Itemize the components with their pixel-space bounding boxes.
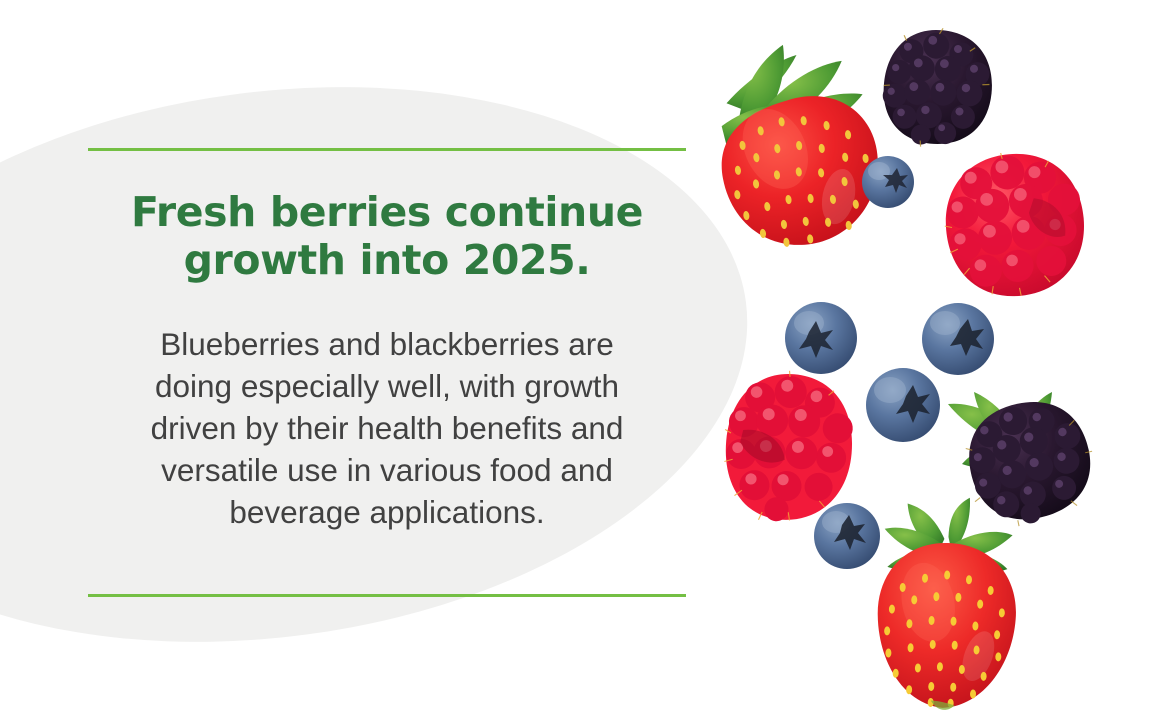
blackberry-top-icon [878,23,998,154]
body-line-3: driven by their health benefits and [92,408,682,450]
page-title: Fresh berries continue growth into 2025. [88,151,686,284]
bottom-divider-wrap [88,594,686,597]
body-line-1: Blueberries and blackberries are [92,324,682,366]
strawberry-bottom-icon [874,495,1020,713]
headline-line-2: growth into 2025. [96,237,678,285]
raspberry-upper-right-icon [939,146,1090,302]
text-block: Fresh berries continue growth into 2025.… [88,148,686,572]
body-paragraph: Blueberries and blackberries are doing e… [88,284,686,571]
body-line-5: beverage applications. [92,492,682,534]
body-line-2: doing especially well, with growth [92,366,682,408]
blueberry-lower-left-icon [814,503,880,569]
raspberry-lower-left-icon [718,366,859,528]
blackberry-lower-right-icon [948,391,1104,534]
bottom-divider-rule [88,594,686,597]
body-line-4: versatile use in various food and [92,450,682,492]
blueberry-upper-right-small-icon [862,156,914,208]
infographic-canvas: Fresh berries continue growth into 2025.… [0,0,1152,726]
blueberry-mid-left-icon [785,302,857,374]
blueberry-center-icon [866,368,940,442]
headline-line-1: Fresh berries continue [131,188,643,236]
strawberry-top-icon [706,34,889,255]
blueberry-mid-right-icon [922,303,994,375]
